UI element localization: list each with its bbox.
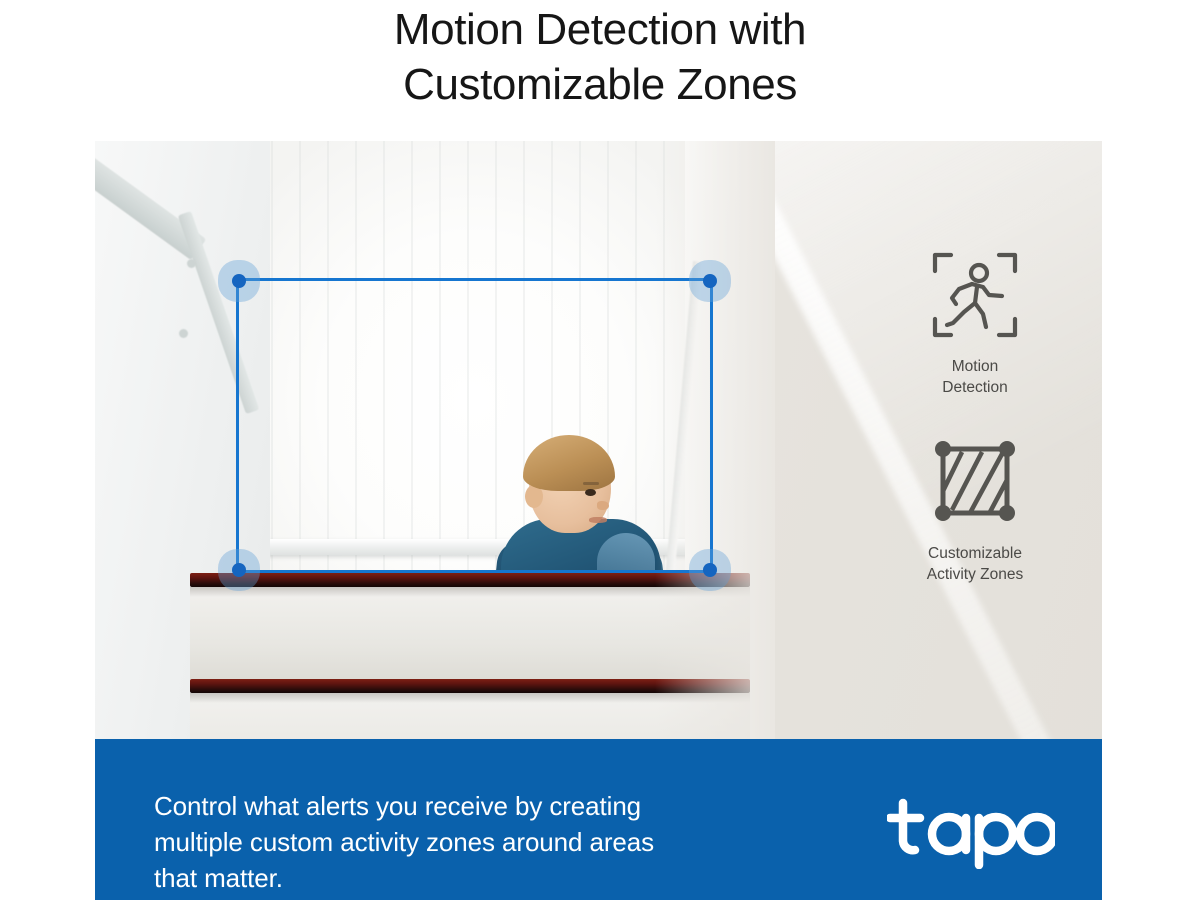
caption-line-3: that matter. xyxy=(154,860,794,896)
feature-motion-detection: Motion Detection xyxy=(855,251,1095,398)
caption-band: Control what alerts you receive by creat… xyxy=(95,739,1102,900)
stair-nosing-1 xyxy=(190,573,750,587)
feature-activity-zones-caption: Customizable Activity Zones xyxy=(855,543,1095,585)
page-title-line-1: Motion Detection with xyxy=(0,2,1200,57)
activity-zone-selection[interactable] xyxy=(236,278,713,573)
caption-line-1: Control what alerts you receive by creat… xyxy=(154,788,794,824)
caption-text: Control what alerts you receive by creat… xyxy=(154,788,794,896)
feature-caption-line-2: Activity Zones xyxy=(855,564,1095,585)
feature-caption-line-2: Detection xyxy=(855,377,1095,398)
feature-list: Motion Detection xyxy=(855,251,1095,623)
feature-caption-line-1: Customizable xyxy=(855,543,1095,564)
tapo-logo xyxy=(887,797,1055,874)
caption-line-2: multiple custom activity zones around ar… xyxy=(154,824,794,860)
stair-tread-1 xyxy=(190,587,750,679)
motion-detection-icon xyxy=(855,251,1095,344)
stair-tread-shadow-2 xyxy=(190,693,750,703)
feature-caption-line-1: Motion xyxy=(855,356,1095,377)
handrail-bracket-2 xyxy=(179,329,188,338)
feature-activity-zones: Customizable Activity Zones xyxy=(855,436,1095,585)
stair-nosing-2 xyxy=(190,679,750,693)
handrail-bracket-1 xyxy=(187,259,196,268)
selection-handle-top-left[interactable] xyxy=(232,274,246,288)
promo-page: Motion Detection with Customizable Zones xyxy=(0,0,1200,900)
stair-tread-shadow-1 xyxy=(190,587,750,597)
selection-handle-bottom-right[interactable] xyxy=(703,563,717,577)
selection-handle-bottom-left[interactable] xyxy=(232,563,246,577)
selection-handle-top-right[interactable] xyxy=(703,274,717,288)
customizable-activity-zones-icon xyxy=(855,436,1095,531)
page-title: Motion Detection with Customizable Zones xyxy=(0,0,1200,112)
page-title-line-2: Customizable Zones xyxy=(0,57,1200,112)
feature-motion-detection-caption: Motion Detection xyxy=(855,356,1095,398)
